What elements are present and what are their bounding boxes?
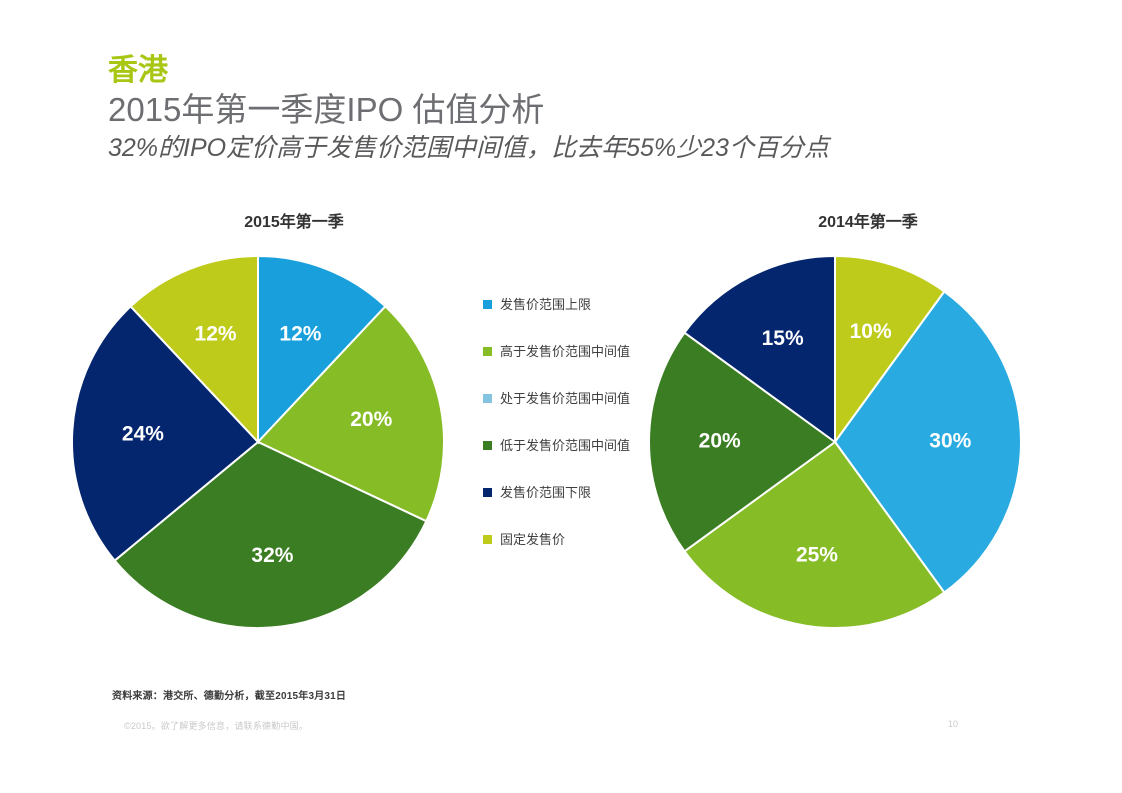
- legend-swatch-icon: [483, 535, 492, 544]
- legend-item-label: 发售价范围下限: [500, 486, 591, 499]
- pie-slice-label: 12%: [279, 322, 321, 345]
- legend-item[interactable]: 固定发售价: [483, 516, 673, 563]
- legend-item[interactable]: 低于发售价范围中间值: [483, 422, 673, 469]
- pie-svg-2014: 10%30%25%20%15%: [645, 252, 1025, 632]
- copyright-note: ©2015。欲了解更多信息，请联系德勤中国。: [124, 719, 308, 732]
- pie-slice-label: 24%: [122, 422, 164, 445]
- page-subtitle: 32%的IPO定价高于发售价范围中间值，比去年55%少23个百分点: [108, 132, 1048, 165]
- legend-swatch-icon: [483, 347, 492, 356]
- page-title: 2015年第一季度IPO 估值分析: [108, 89, 1048, 130]
- legend-item-label: 处于发售价范围中间值: [500, 392, 630, 405]
- pie-slice-label: 12%: [195, 322, 237, 345]
- legend-item-label: 低于发售价范围中间值: [500, 439, 630, 452]
- pie-chart-2014-q1: 10%30%25%20%15%: [645, 252, 1025, 632]
- chart-legend: 发售价范围上限高于发售价范围中间值处于发售价范围中间值低于发售价范围中间值发售价…: [483, 281, 673, 563]
- legend-swatch-icon: [483, 300, 492, 309]
- legend-item[interactable]: 发售价范围下限: [483, 469, 673, 516]
- pie-slice-label: 10%: [850, 320, 892, 343]
- chart-title-2015: 2015年第一季: [144, 208, 444, 232]
- legend-item-label: 发售价范围上限: [500, 298, 591, 311]
- page-number: 10: [948, 719, 958, 729]
- pie-slice-label: 32%: [251, 544, 293, 567]
- pie-chart-2015-q1: 12%20%32%24%12%: [68, 252, 448, 632]
- source-note: 资料来源：港交所、德勤分析，截至2015年3月31日: [112, 687, 346, 702]
- legend-item[interactable]: 处于发售价范围中间值: [483, 375, 673, 422]
- pie-slice-label: 30%: [929, 430, 971, 453]
- pie-svg-2015: 12%20%32%24%12%: [68, 252, 448, 632]
- slide-header: 香港 2015年第一季度IPO 估值分析 32%的IPO定价高于发售价范围中间值…: [108, 55, 1048, 164]
- legend-swatch-icon: [483, 394, 492, 403]
- legend-item[interactable]: 高于发售价范围中间值: [483, 328, 673, 375]
- pie-slice-label: 25%: [796, 543, 838, 566]
- pie-slice-label: 20%: [699, 430, 741, 453]
- pie-slice-label: 15%: [762, 327, 804, 350]
- legend-swatch-icon: [483, 441, 492, 450]
- legend-swatch-icon: [483, 488, 492, 497]
- page-kicker: 香港: [108, 55, 1048, 87]
- legend-item[interactable]: 发售价范围上限: [483, 281, 673, 328]
- legend-item-label: 高于发售价范围中间值: [500, 345, 630, 358]
- legend-item-label: 固定发售价: [500, 533, 565, 546]
- pie-slice-label: 20%: [350, 408, 392, 431]
- chart-title-2014: 2014年第一季: [718, 208, 1018, 232]
